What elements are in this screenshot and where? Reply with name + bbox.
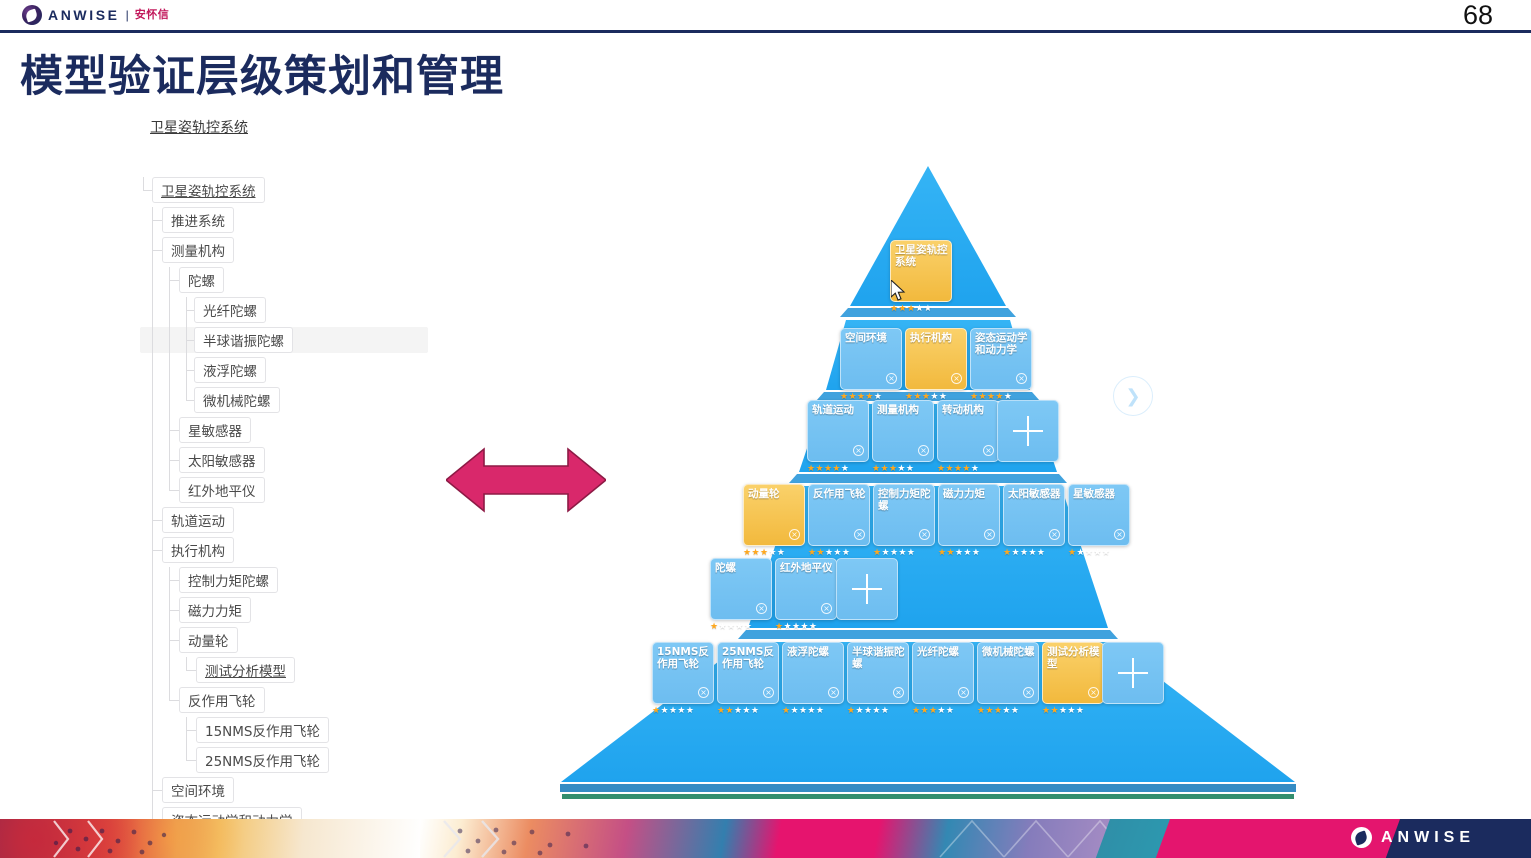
pyramid-card-label: 测量机构 <box>877 404 930 416</box>
pyramid-card-label: 动量轮 <box>748 488 801 500</box>
star-rating[interactable]: ★★★★★ <box>775 621 837 631</box>
star-icon[interactable]: ★ <box>809 621 817 631</box>
pyramid-card-label: 姿态运动学和动力学 <box>975 332 1028 356</box>
star-icon[interactable]: ★ <box>1002 705 1010 715</box>
tree-connector <box>186 730 196 731</box>
tree-connector <box>152 520 162 521</box>
star-icon[interactable]: ★ <box>1076 547 1084 557</box>
pyramid-card-label: 测试分析模型 <box>1047 646 1100 670</box>
tree-node-3[interactable]: 陀螺 <box>179 267 224 293</box>
chevron-right-icon[interactable]: ❯ <box>1113 376 1153 416</box>
star-icon[interactable]: ★ <box>924 303 932 313</box>
pyramid-card-l4-4[interactable]: 太阳敏感器× <box>1003 484 1065 546</box>
tree-node-12[interactable]: 执行机构 <box>162 537 234 563</box>
star-icon[interactable]: ★ <box>777 547 785 557</box>
tree-connector <box>169 610 179 611</box>
brand-name-cn: 安怀信 <box>135 5 170 25</box>
close-circle-icon[interactable]: × <box>854 529 865 540</box>
star-rating[interactable]: ★★★★★ <box>652 705 714 715</box>
tree-connector <box>186 717 187 760</box>
star-icon[interactable]: ★ <box>906 463 914 473</box>
close-circle-icon[interactable]: × <box>886 373 897 384</box>
tree-node-11[interactable]: 轨道运动 <box>162 507 234 533</box>
close-circle-icon[interactable]: × <box>958 687 969 698</box>
tree-connector <box>143 177 144 190</box>
pyramid-card-wrapper: 液浮陀螺×★★★★★ <box>782 642 844 716</box>
star-icon[interactable]: ★ <box>872 705 880 715</box>
close-circle-icon[interactable]: × <box>951 373 962 384</box>
star-icon[interactable]: ★ <box>962 463 970 473</box>
star-rating[interactable]: ★★★★★ <box>743 547 805 557</box>
star-icon[interactable]: ★ <box>735 621 743 631</box>
star-icon[interactable]: ★ <box>946 547 954 557</box>
tree-node-20[interactable]: 空间环境 <box>162 777 234 803</box>
page-number: 68 <box>1463 0 1493 30</box>
footer-decoration-mid <box>420 819 1110 858</box>
footer-brand-name: ANWISE <box>1381 827 1475 848</box>
pyramid-card-l5-1[interactable]: 25NMS反作用飞轮× <box>717 642 779 704</box>
pyramid-card-label: 反作用飞轮 <box>813 488 866 500</box>
close-circle-icon[interactable]: × <box>698 687 709 698</box>
pyramid-card-wrapper: 磁力力矩×★★★★★ <box>938 484 1000 558</box>
tree-node-1[interactable]: 推进系统 <box>162 207 234 233</box>
pyramid-card-l4-7[interactable]: 红外地平仪× <box>775 558 837 620</box>
star-rating[interactable]: ★★★★★ <box>710 621 772 631</box>
star-icon[interactable]: ★ <box>963 547 971 557</box>
hex-pattern-mid-icon <box>420 819 1110 858</box>
star-icon[interactable]: ★ <box>744 621 752 631</box>
tree-node-10[interactable]: 红外地平仪 <box>179 477 265 503</box>
pyramid-card-label: 卫星姿轨控系统 <box>895 244 948 268</box>
tree-connector <box>169 700 179 701</box>
star-rating[interactable]: ★★★★★ <box>1068 547 1130 557</box>
page-title: 模型验证层级策划和管理 <box>20 42 504 104</box>
pyramid-card-l5-2[interactable]: 液浮陀螺× <box>782 642 844 704</box>
star-icon[interactable]: ★ <box>1037 547 1045 557</box>
pyramid-card-l5-6[interactable]: 测试分析模型× <box>1042 642 1104 704</box>
close-circle-icon[interactable]: × <box>821 603 832 614</box>
close-circle-icon[interactable]: × <box>918 445 929 456</box>
footer-brand-band: ANWISE <box>1110 819 1531 858</box>
pyramid-card-label: 红外地平仪 <box>780 562 833 574</box>
pyramid-card-wrapper: 轨道运动×★★★★★ <box>807 400 869 474</box>
pyramid-card-l5-3[interactable]: 半球谐振陀螺× <box>847 642 909 704</box>
tree-connector <box>169 567 170 700</box>
pyramid-card-wrapper: 反作用飞轮×★★★★★ <box>808 484 870 558</box>
pyramid-card-wrapper: 测试分析模型×★★★★★ <box>1042 642 1104 716</box>
mouse-pointer-icon <box>891 280 907 307</box>
pyramid-card-l5-4[interactable]: 光纤陀螺× <box>912 642 974 704</box>
star-icon[interactable]: ★ <box>841 463 849 473</box>
star-rating[interactable]: ★★★★★ <box>808 547 870 557</box>
star-icon[interactable]: ★ <box>686 705 694 715</box>
star-icon[interactable]: ★ <box>677 705 685 715</box>
anwise-bird-logo-icon <box>22 5 42 25</box>
star-icon[interactable]: ★ <box>972 547 980 557</box>
star-rating[interactable]: ★★★★★ <box>1003 547 1065 557</box>
validation-pyramid: 卫星姿轨控系统★★★★★空间环境×★★★★★执行机构×★★★★★姿态运动学和动力… <box>560 160 1320 800</box>
footer-logo: ANWISE <box>1351 827 1475 848</box>
pyramid-card-l2-1[interactable]: 执行机构× <box>905 328 967 390</box>
close-circle-icon[interactable]: × <box>789 529 800 540</box>
close-circle-icon[interactable]: × <box>1023 687 1034 698</box>
tree-node-8[interactable]: 星敏感器 <box>179 417 251 443</box>
pyramid-card-l3-1[interactable]: 测量机构× <box>872 400 934 462</box>
star-icon[interactable]: ★ <box>898 547 906 557</box>
pyramid-card-l5-5[interactable]: 微机械陀螺× <box>977 642 1039 704</box>
tree-connector <box>186 400 194 401</box>
close-circle-icon[interactable]: × <box>1114 529 1125 540</box>
hex-pattern-icon <box>0 819 420 858</box>
add-card-button-l3[interactable] <box>997 400 1059 462</box>
pyramid-card-l3-2[interactable]: 转动机构× <box>937 400 999 462</box>
star-icon[interactable]: ★ <box>855 705 863 715</box>
pyramid-card-wrapper: 测量机构×★★★★★ <box>872 400 934 474</box>
star-icon[interactable]: ★ <box>768 547 776 557</box>
star-icon[interactable]: ★ <box>751 547 759 557</box>
tree-node-18[interactable]: 15NMS反作用飞轮 <box>196 717 329 743</box>
star-icon[interactable]: ★ <box>751 705 759 715</box>
star-rating[interactable]: ★★★★★ <box>872 463 934 473</box>
pyramid-card-label: 太阳敏感器 <box>1008 488 1061 500</box>
star-icon[interactable]: ★ <box>945 463 953 473</box>
pyramid-card-label: 磁力力矩 <box>943 488 996 500</box>
pyramid-card-l2-0[interactable]: 空间环境× <box>840 328 902 390</box>
pyramid-card-label: 光纤陀螺 <box>917 646 970 658</box>
close-circle-icon[interactable]: × <box>853 445 864 456</box>
star-rating[interactable]: ★★★★★ <box>807 463 869 473</box>
star-icon[interactable]: ★ <box>1093 547 1101 557</box>
pyramid-card-l4-0[interactable]: 动量轮× <box>743 484 805 546</box>
star-icon[interactable]: ★ <box>815 463 823 473</box>
pyramid-card-wrapper: 动量轮×★★★★★ <box>743 484 805 558</box>
tree-connector <box>186 297 187 400</box>
star-icon[interactable]: ★ <box>946 705 954 715</box>
star-icon[interactable]: ★ <box>1050 705 1058 715</box>
pyramid-card-l4-5[interactable]: 星敏感器× <box>1068 484 1130 546</box>
pyramid-card-label: 执行机构 <box>910 332 963 344</box>
tree-connector <box>186 370 194 371</box>
star-icon[interactable]: ★ <box>833 547 841 557</box>
pyramid-card-l4-1[interactable]: 反作用飞轮× <box>808 484 870 546</box>
tree-node-14[interactable]: 磁力力矩 <box>179 597 251 623</box>
star-icon[interactable]: ★ <box>842 547 850 557</box>
header-divider <box>0 30 1531 33</box>
tree-node-19[interactable]: 25NMS反作用飞轮 <box>196 747 329 773</box>
pyramid-card-wrapper: 星敏感器×★★★★★ <box>1068 484 1130 558</box>
pyramid-card-wrapper: 红外地平仪×★★★★★ <box>775 558 837 632</box>
pyramid-card-label: 空间环境 <box>845 332 898 344</box>
close-circle-icon[interactable]: × <box>893 687 904 698</box>
tree-node-16[interactable]: 测试分析模型 <box>196 657 295 683</box>
tree-node-6[interactable]: 液浮陀螺 <box>194 357 266 383</box>
tree-connector <box>169 490 179 491</box>
star-icon[interactable]: ★ <box>816 547 824 557</box>
tree-node-2[interactable]: 测量机构 <box>162 237 234 263</box>
pyramid-card-wrapper: 半球谐振陀螺×★★★★★ <box>847 642 909 716</box>
pyramid-card-l2-2[interactable]: 姿态运动学和动力学× <box>970 328 1032 390</box>
pyramid-card-wrapper: 执行机构×★★★★★ <box>905 328 967 402</box>
pyramid-card-wrapper: 微机械陀螺×★★★★★ <box>977 642 1039 716</box>
pyramid-card-wrapper: 转动机构×★★★★★ <box>937 400 999 474</box>
pyramid-card-label: 陀螺 <box>715 562 768 574</box>
tree-node-5[interactable]: 半球谐振陀螺 <box>194 327 293 353</box>
star-icon[interactable]: ★ <box>881 547 889 557</box>
brand-separator: | <box>126 5 129 25</box>
tree-connector <box>169 580 179 581</box>
tree-connector <box>169 430 179 431</box>
tree-connector <box>186 760 196 761</box>
close-circle-icon[interactable]: × <box>763 687 774 698</box>
tree-connector <box>169 460 179 461</box>
pyramid-card-label: 15NMS反作用飞轮 <box>657 646 710 670</box>
tree-connector <box>169 640 179 641</box>
tree-node-0[interactable]: 卫星姿轨控系统 <box>152 177 265 203</box>
star-icon[interactable]: ★ <box>971 463 979 473</box>
star-icon[interactable]: ★ <box>1102 547 1110 557</box>
tree-connector <box>143 190 152 191</box>
star-rating[interactable]: ★★★★★ <box>847 705 909 715</box>
star-icon[interactable]: ★ <box>1076 705 1084 715</box>
star-icon[interactable]: ★ <box>880 463 888 473</box>
tree-connector <box>186 310 194 311</box>
star-rating[interactable]: ★★★★★ <box>937 463 999 473</box>
star-rating[interactable]: ★★★★★ <box>873 547 935 557</box>
pyramid-card-label: 微机械陀螺 <box>982 646 1035 658</box>
pyramid-card-label: 半球谐振陀螺 <box>852 646 905 670</box>
tree-node-9[interactable]: 太阳敏感器 <box>179 447 265 473</box>
star-icon[interactable]: ★ <box>742 705 750 715</box>
star-rating[interactable]: ★★★★★ <box>782 705 844 715</box>
star-icon[interactable]: ★ <box>800 621 808 631</box>
star-icon[interactable]: ★ <box>907 547 915 557</box>
tree-connector <box>152 220 162 221</box>
pyramid-card-wrapper: 15NMS反作用飞轮×★★★★★ <box>652 642 714 716</box>
close-circle-icon[interactable]: × <box>919 529 930 540</box>
star-icon[interactable]: ★ <box>816 705 824 715</box>
star-rating[interactable]: ★★★★★ <box>912 705 974 715</box>
pyramid-card-label: 25NMS反作用飞轮 <box>722 646 775 670</box>
tree-connector <box>186 340 194 341</box>
header-logo: ANWISE | 安怀信 <box>22 5 169 25</box>
tree-heading: 卫星姿轨控系统 <box>150 117 248 137</box>
star-icon[interactable]: ★ <box>1067 705 1075 715</box>
close-circle-icon[interactable]: × <box>1049 529 1060 540</box>
tree-panel: 卫星姿轨控系统 卫星姿轨控系统推进系统测量机构陀螺光纤陀螺半球谐振陀螺液浮陀螺微… <box>0 105 430 850</box>
star-icon[interactable]: ★ <box>725 705 733 715</box>
star-rating[interactable]: ★★★★★ <box>1042 705 1104 715</box>
pyramid-card-wrapper: 陀螺×★★★★★ <box>710 558 772 632</box>
close-circle-icon[interactable]: × <box>1016 373 1027 384</box>
star-rating[interactable]: ★★★★★ <box>977 705 1039 715</box>
close-circle-icon[interactable]: × <box>756 603 767 614</box>
pyramid-card-l3-0[interactable]: 轨道运动× <box>807 400 869 462</box>
slide-canvas: ANWISE | 安怀信 68 模型验证层级策划和管理 卫星姿轨控系统 卫星姿轨… <box>0 0 1531 858</box>
tree-node-4[interactable]: 光纤陀螺 <box>194 297 266 323</box>
pyramid-card-wrapper: 太阳敏感器×★★★★★ <box>1003 484 1065 558</box>
close-circle-icon[interactable]: × <box>828 687 839 698</box>
star-icon[interactable]: ★ <box>1011 547 1019 557</box>
star-icon[interactable]: ★ <box>897 463 905 473</box>
tree-connector <box>152 550 162 551</box>
star-icon[interactable]: ★ <box>1028 547 1036 557</box>
add-card-button-l4[interactable] <box>836 558 898 620</box>
pyramid-card-l4-6[interactable]: 陀螺× <box>710 558 772 620</box>
close-circle-icon[interactable]: × <box>983 445 994 456</box>
star-icon[interactable]: ★ <box>915 303 923 313</box>
anwise-bird-logo-icon <box>1351 827 1372 848</box>
star-icon[interactable]: ★ <box>783 621 791 631</box>
tree-connector <box>152 250 162 251</box>
close-circle-icon[interactable]: × <box>984 529 995 540</box>
pyramid-card-wrapper: 25NMS反作用飞轮×★★★★★ <box>717 642 779 716</box>
star-icon[interactable]: ★ <box>920 705 928 715</box>
star-icon[interactable]: ★ <box>985 705 993 715</box>
pyramid-card-label: 控制力矩陀螺 <box>878 488 931 512</box>
pyramid-card-label: 轨道运动 <box>812 404 865 416</box>
star-icon[interactable]: ★ <box>832 463 840 473</box>
star-icon[interactable]: ★ <box>1011 705 1019 715</box>
pyramid-card-wrapper: 空间环境×★★★★★ <box>840 328 902 402</box>
star-icon[interactable]: ★ <box>881 705 889 715</box>
brand-name: ANWISE <box>48 5 120 25</box>
slide-footer: ANWISE <box>0 819 1531 858</box>
slide-header: ANWISE | 安怀信 68 <box>0 0 1531 30</box>
tree-connector <box>152 790 162 791</box>
pyramid-card-wrapper: 姿态运动学和动力学×★★★★★ <box>970 328 1032 402</box>
star-icon[interactable]: ★ <box>937 705 945 715</box>
pyramid-card-label: 转动机构 <box>942 404 995 416</box>
pyramid-card-l4-2[interactable]: 控制力矩陀螺× <box>873 484 935 546</box>
tree-node-13[interactable]: 控制力矩陀螺 <box>179 567 278 593</box>
star-icon[interactable]: ★ <box>718 621 726 631</box>
tree-connector <box>169 267 170 490</box>
star-icon[interactable]: ★ <box>660 705 668 715</box>
tree-connector <box>152 207 153 850</box>
star-icon[interactable]: ★ <box>790 705 798 715</box>
tree-connector <box>186 657 187 670</box>
tree-node-17[interactable]: 反作用飞轮 <box>179 687 265 713</box>
tree-connector <box>186 670 196 671</box>
pyramid-card-l4-3[interactable]: 磁力力矩× <box>938 484 1000 546</box>
pyramid-card-l5-0[interactable]: 15NMS反作用飞轮× <box>652 642 714 704</box>
footer-decoration-left <box>0 819 420 858</box>
star-rating[interactable]: ★★★★★ <box>938 547 1000 557</box>
pyramid-card-wrapper: 控制力矩陀螺×★★★★★ <box>873 484 935 558</box>
pyramid-card-label: 液浮陀螺 <box>787 646 840 658</box>
pyramid-card-label: 星敏感器 <box>1073 488 1126 500</box>
add-card-button-l5[interactable] <box>1102 642 1164 704</box>
tree-connector <box>169 280 179 281</box>
pyramid-card-wrapper: 光纤陀螺×★★★★★ <box>912 642 974 716</box>
star-rating[interactable]: ★★★★★ <box>717 705 779 715</box>
tree-node-15[interactable]: 动量轮 <box>179 627 238 653</box>
tree-node-7[interactable]: 微机械陀螺 <box>194 387 280 413</box>
close-circle-icon[interactable]: × <box>1088 687 1099 698</box>
star-icon[interactable]: ★ <box>807 705 815 715</box>
